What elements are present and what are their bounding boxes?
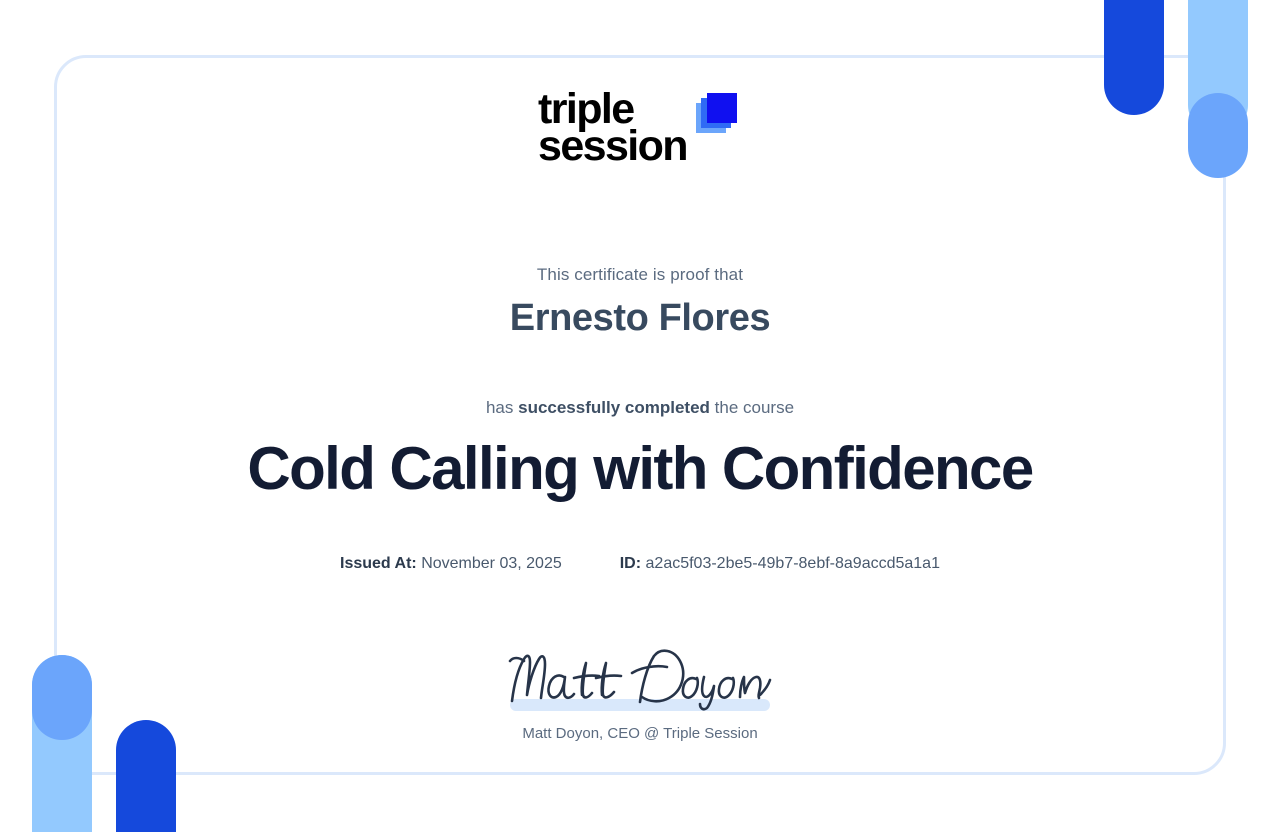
logo-text-line-2: session	[538, 128, 687, 165]
signature-block: Matt Doyon, CEO @ Triple Session	[490, 645, 790, 742]
logo-wordmark: triple session	[538, 91, 687, 165]
certificate-id-label: ID:	[620, 555, 641, 572]
certificate-id-group: ID: a2ac5f03-2be5-49b7-8ebf-8a9accd5a1a1	[620, 555, 940, 573]
completion-emphasis: successfully completed	[518, 398, 710, 417]
certificate-metadata: Issued At: November 03, 2025 ID: a2ac5f0…	[340, 555, 940, 573]
triple-session-logo: triple session	[538, 91, 742, 165]
signature-area	[490, 645, 790, 711]
logo-square-front-icon	[707, 93, 737, 123]
recipient-name: Ernesto Flores	[510, 297, 770, 340]
issued-at-group: Issued At: November 03, 2025	[340, 555, 562, 573]
certificate-id-value: a2ac5f03-2be5-49b7-8ebf-8a9accd5a1a1	[646, 555, 940, 572]
stacked-squares-icon	[696, 93, 742, 135]
issued-at-value: November 03, 2025	[421, 555, 562, 572]
certificate-card: triple session This certificate is proof…	[54, 55, 1226, 775]
course-title: Cold Calling with Confidence	[247, 434, 1032, 503]
completion-statement: has successfully completed the course	[486, 398, 794, 418]
completion-suffix: the course	[710, 398, 794, 417]
signature-caption: Matt Doyon, CEO @ Triple Session	[522, 725, 757, 742]
completion-prefix: has	[486, 398, 518, 417]
issued-at-label: Issued At:	[340, 555, 417, 572]
proof-statement: This certificate is proof that	[537, 265, 743, 285]
signature-mark	[504, 645, 776, 711]
